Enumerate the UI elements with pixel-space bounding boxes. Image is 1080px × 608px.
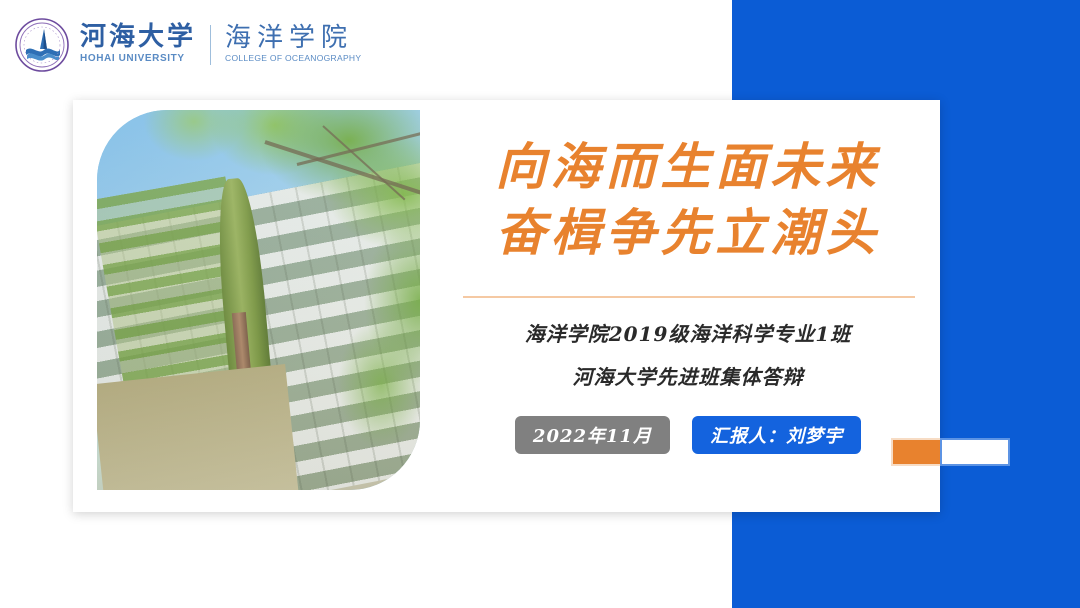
university-seal-icon [14,17,70,73]
badge-row: 2022年11月 汇报人：刘梦宇 [453,416,923,454]
logo-college-cn: 海洋学院 [225,25,361,52]
logo-divider [210,25,211,65]
title-text-column: 向海而生面未来 奋楫争先立潮头 海洋学院2019级海洋科学专业1班 河海大学先进… [453,134,923,454]
logo-college-block: 海洋学院 COLLEGE OF OCEANOGRAPHY [225,25,361,65]
logo-university-block: 河海大学 HOHAI UNIVERSITY [80,24,196,66]
blue-panel-bottom [732,512,1080,608]
photo-shading-overlay [97,110,420,490]
title-divider [463,296,915,298]
speaker-badge: 汇报人：刘梦宇 [692,416,861,454]
content-card: 向海而生面未来 奋楫争先立潮头 海洋学院2019级海洋科学专业1班 河海大学先进… [73,100,940,512]
main-title-line-2: 奋楫争先立潮头 [453,200,923,266]
hohai-logo-lockup: 河海大学 HOHAI UNIVERSITY 海洋学院 COLLEGE OF OC… [14,14,361,76]
logo-university-cn: 河海大学 [80,24,196,51]
decorative-white-rect [940,438,1010,466]
logo-university-en: HOHAI UNIVERSITY [80,52,196,66]
blue-panel-top [732,0,1080,100]
subtitle-line-1: 海洋学院2019级海洋科学专业1班 [453,324,923,345]
campus-building-photo [97,110,420,490]
subtitle-line-2: 河海大学先进班集体答辩 [453,367,923,388]
logo-college-en: COLLEGE OF OCEANOGRAPHY [225,53,361,65]
main-title-line-1: 向海而生面未来 [453,134,923,200]
presentation-slide: 河海大学 HOHAI UNIVERSITY 海洋学院 COLLEGE OF OC… [0,0,1080,608]
date-badge: 2022年11月 [515,416,670,454]
